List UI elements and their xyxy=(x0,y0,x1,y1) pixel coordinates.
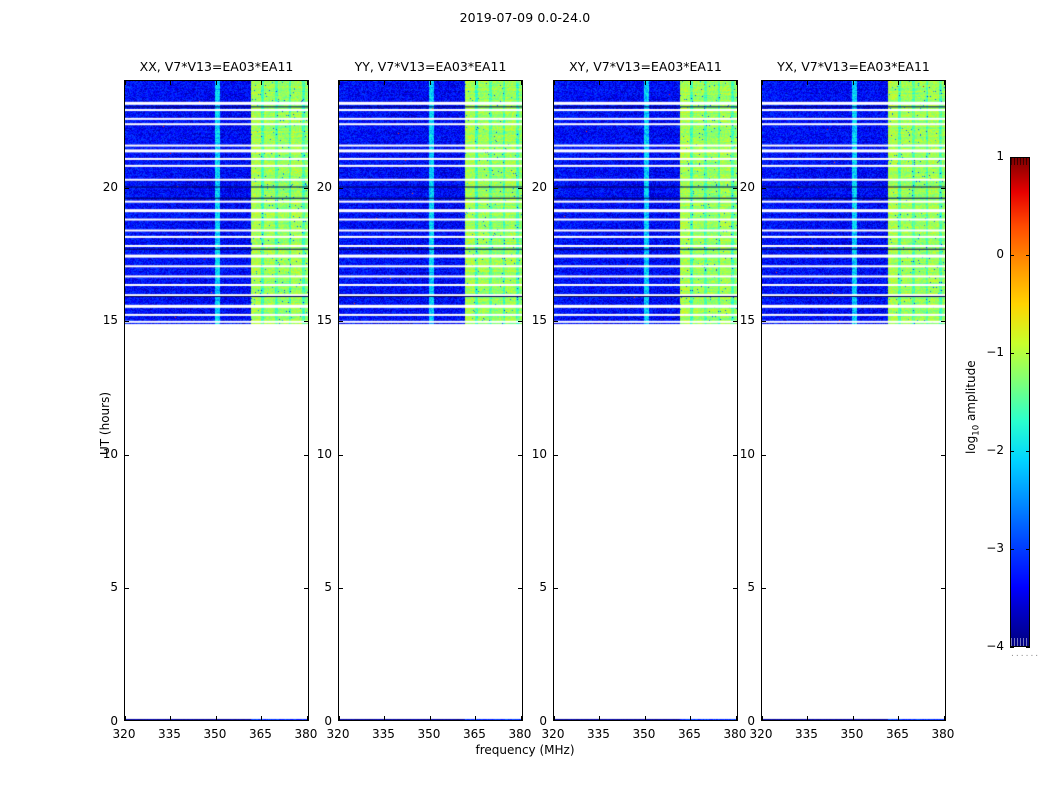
y-tick xyxy=(554,588,558,589)
colorbar-tick xyxy=(1026,549,1030,550)
x-tick xyxy=(261,81,262,85)
y-tick xyxy=(554,455,558,456)
x-tick xyxy=(645,81,646,85)
colorbar-tick-label: −4 xyxy=(974,639,1004,653)
x-tick xyxy=(475,716,476,720)
x-tick xyxy=(170,81,171,85)
x-tick xyxy=(170,716,171,720)
y-tick xyxy=(762,188,766,189)
x-tick xyxy=(307,81,308,85)
x-axis-label: frequency (MHz) xyxy=(0,743,1050,757)
y-tick-label: 15 xyxy=(715,313,755,327)
heatmap-panel-yy[interactable] xyxy=(338,80,523,721)
y-tick-label: 10 xyxy=(507,447,547,461)
x-tick-label: 350 xyxy=(624,727,664,741)
colorbar-stipple xyxy=(1011,638,1029,646)
x-tick-label: 365 xyxy=(669,727,709,741)
heatmap-panel-yx[interactable] xyxy=(761,80,946,721)
y-tick xyxy=(941,455,945,456)
y-tick-label: 15 xyxy=(78,313,118,327)
x-tick-label: 350 xyxy=(195,727,235,741)
y-tick xyxy=(554,188,558,189)
x-tick-label: 350 xyxy=(832,727,872,741)
x-tick xyxy=(762,716,763,720)
x-tick-label: 320 xyxy=(741,727,781,741)
y-tick-label: 10 xyxy=(78,447,118,461)
y-tick xyxy=(762,455,766,456)
y-tick xyxy=(339,588,343,589)
y-tick-label: 5 xyxy=(292,580,332,594)
x-tick xyxy=(853,716,854,720)
y-tick xyxy=(941,588,945,589)
x-tick xyxy=(645,716,646,720)
x-tick xyxy=(521,81,522,85)
colorbar-tick xyxy=(1026,353,1030,354)
colorbar-tick xyxy=(1010,549,1014,550)
colorbar-label: log10 amplitude xyxy=(964,360,981,454)
y-tick-label: 20 xyxy=(715,180,755,194)
x-tick xyxy=(384,716,385,720)
colorbar-tick xyxy=(1010,451,1014,452)
x-tick xyxy=(736,81,737,85)
colorbar[interactable] xyxy=(1010,157,1030,647)
y-tick-label: 20 xyxy=(292,180,332,194)
x-tick-label: 380 xyxy=(923,727,963,741)
y-tick-label: 0 xyxy=(507,714,547,728)
x-tick xyxy=(898,81,899,85)
x-tick xyxy=(554,716,555,720)
heatmap-panel-xx[interactable] xyxy=(124,80,309,721)
y-tick xyxy=(125,455,129,456)
waterfall-image-xy xyxy=(554,81,737,721)
x-tick xyxy=(944,716,945,720)
x-tick-label: 320 xyxy=(533,727,573,741)
y-tick xyxy=(339,455,343,456)
colorbar-tick xyxy=(1026,451,1030,452)
colorbar-label-subscript: 10 xyxy=(971,425,981,436)
x-tick xyxy=(430,81,431,85)
x-tick xyxy=(599,716,600,720)
y-tick xyxy=(125,188,129,189)
x-tick xyxy=(944,81,945,85)
y-tick xyxy=(339,188,343,189)
figure-canvas: 2019-07-09 0.0-24.0 UT (hours) frequency… xyxy=(0,0,1050,800)
x-tick-label: 335 xyxy=(786,727,826,741)
y-tick-label: 5 xyxy=(507,580,547,594)
x-tick xyxy=(261,716,262,720)
x-tick xyxy=(125,81,126,85)
y-tick xyxy=(125,588,129,589)
panel-title-yy: YY, V7*V13=EA03*EA11 xyxy=(338,59,523,74)
x-tick-label: 365 xyxy=(454,727,494,741)
colorbar-label-prefix: log xyxy=(964,436,978,454)
y-tick xyxy=(125,321,129,322)
colorbar-tick-label: 0 xyxy=(974,247,1004,261)
y-axis-label: UT (hours) xyxy=(98,392,112,455)
y-tick xyxy=(762,588,766,589)
colorbar-tick xyxy=(1010,353,1014,354)
figure-title: 2019-07-09 0.0-24.0 xyxy=(0,10,1050,25)
y-tick xyxy=(554,321,558,322)
y-tick-label: 15 xyxy=(507,313,547,327)
x-tick-label: 365 xyxy=(877,727,917,741)
y-tick-label: 5 xyxy=(715,580,755,594)
colorbar-tick-label: −3 xyxy=(974,541,1004,555)
y-tick-label: 0 xyxy=(292,714,332,728)
x-tick xyxy=(807,81,808,85)
colorbar-tick xyxy=(1010,647,1014,648)
colorbar-tick-label: 1 xyxy=(974,149,1004,163)
x-tick xyxy=(339,81,340,85)
x-tick xyxy=(853,81,854,85)
colorbar-tick-label: −1 xyxy=(974,345,1004,359)
x-tick xyxy=(554,81,555,85)
y-tick-label: 0 xyxy=(78,714,118,728)
x-tick-label: 350 xyxy=(409,727,449,741)
x-tick-label: 335 xyxy=(149,727,189,741)
x-tick-label: 365 xyxy=(240,727,280,741)
colorbar-tick xyxy=(1010,255,1014,256)
x-tick xyxy=(599,81,600,85)
colorbar-tick xyxy=(1026,647,1030,648)
x-tick xyxy=(216,716,217,720)
y-tick xyxy=(941,321,945,322)
panel-title-xy: XY, V7*V13=EA03*EA11 xyxy=(553,59,738,74)
waterfall-image-xx xyxy=(125,81,308,721)
y-tick xyxy=(941,188,945,189)
colorbar-label-suffix: amplitude xyxy=(964,360,978,424)
panel-title-xx: XX, V7*V13=EA03*EA11 xyxy=(124,59,309,74)
y-tick-label: 0 xyxy=(715,714,755,728)
x-tick xyxy=(807,716,808,720)
x-tick-label: 320 xyxy=(318,727,358,741)
x-tick-label: 335 xyxy=(363,727,403,741)
x-tick xyxy=(762,81,763,85)
y-tick-label: 10 xyxy=(292,447,332,461)
x-tick xyxy=(690,81,691,85)
waterfall-image-yy xyxy=(339,81,522,721)
y-tick-label: 15 xyxy=(292,313,332,327)
colorbar-tick xyxy=(1026,255,1030,256)
heatmap-panel-xy[interactable] xyxy=(553,80,738,721)
y-tick-label: 20 xyxy=(507,180,547,194)
y-tick-label: 5 xyxy=(78,580,118,594)
y-tick-label: 20 xyxy=(78,180,118,194)
x-tick xyxy=(898,716,899,720)
x-tick xyxy=(125,716,126,720)
waterfall-image-yx xyxy=(762,81,945,721)
colorbar-stipple xyxy=(1011,158,1029,165)
colorbar-underflow-marker: ...... xyxy=(1011,649,1040,659)
x-tick xyxy=(339,716,340,720)
x-tick xyxy=(384,81,385,85)
x-tick xyxy=(475,81,476,85)
x-tick-label: 320 xyxy=(104,727,144,741)
x-tick xyxy=(430,716,431,720)
panel-title-yx: YX, V7*V13=EA03*EA11 xyxy=(761,59,946,74)
y-tick-label: 10 xyxy=(715,447,755,461)
x-tick xyxy=(690,716,691,720)
y-tick xyxy=(762,321,766,322)
x-tick-label: 335 xyxy=(578,727,618,741)
x-tick xyxy=(216,81,217,85)
y-tick xyxy=(339,321,343,322)
